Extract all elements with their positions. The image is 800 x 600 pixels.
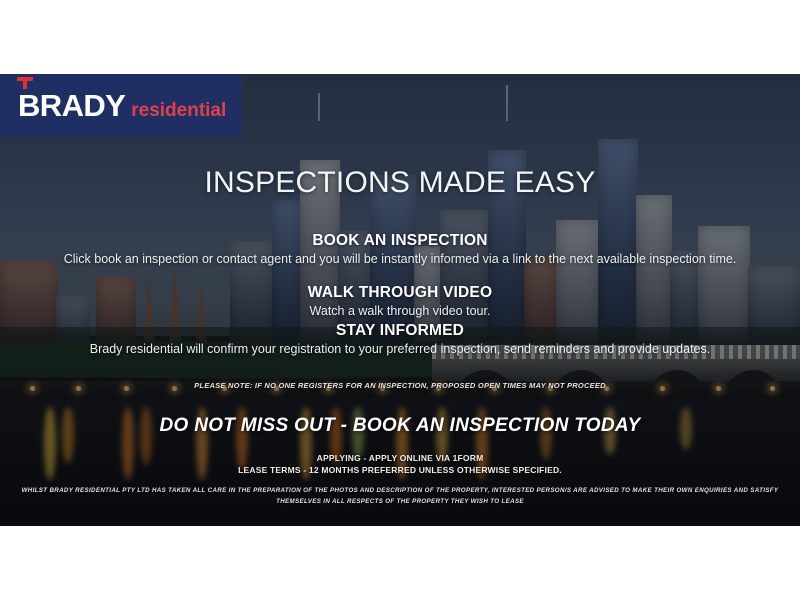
applying-details: APPLYING - APPLY ONLINE VIA 1FORM LEASE …	[0, 452, 800, 477]
screenshot-canvas: BRADY residential INSPECTIONS MADE EASY …	[0, 0, 800, 600]
call-to-action-text: DO NOT MISS OUT - BOOK AN INSPECTION TOD…	[0, 415, 800, 437]
section-stay-informed: STAY INFORMED Brady residential will con…	[0, 322, 800, 358]
section-walk-through-video: WALK THROUGH VIDEO Watch a walk through …	[0, 284, 800, 320]
page-title: INSPECTIONS MADE EASY	[0, 166, 800, 200]
section-heading: BOOK AN INSPECTION	[0, 232, 800, 250]
applying-line-2: LEASE TERMS - 12 MONTHS PREFERRED UNLESS…	[0, 464, 800, 476]
section-book-an-inspection: BOOK AN INSPECTION Click book an inspect…	[0, 232, 800, 268]
section-heading: STAY INFORMED	[0, 322, 800, 340]
please-note-notice: PLEASE NOTE: IF NO ONE REGISTERS FOR AN …	[0, 381, 800, 390]
section-heading: WALK THROUGH VIDEO	[0, 284, 800, 302]
legal-disclaimer: WHILST BRADY RESIDENTIAL PTY LTD HAS TAK…	[14, 486, 786, 507]
property-marketing-image: BRADY residential INSPECTIONS MADE EASY …	[0, 74, 800, 526]
section-body: Brady residential will confirm your regi…	[0, 342, 800, 358]
section-body: Click book an inspection or contact agen…	[0, 252, 800, 268]
marketing-text-overlay: INSPECTIONS MADE EASY BOOK AN INSPECTION…	[0, 74, 800, 526]
section-body: Watch a walk through video tour.	[0, 304, 800, 320]
applying-line-1: APPLYING - APPLY ONLINE VIA 1FORM	[0, 452, 800, 464]
